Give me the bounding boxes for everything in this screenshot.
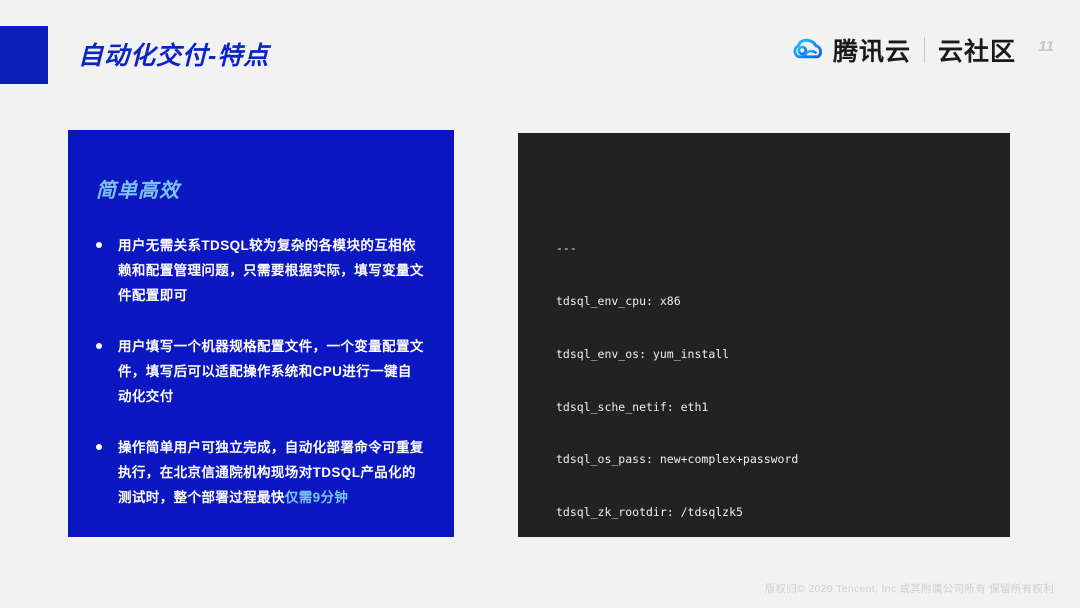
terminal-content: --- tdsql_env_cpu: x86 tdsql_env_os: yum… [556, 205, 1010, 537]
bullet-item: 操作简单用户可独立完成，自动化部署命令可重复执行，在北京信通院机构现场对TDSQ… [96, 435, 424, 510]
brand-sub-name: 云社区 [938, 32, 1016, 68]
bullet-text-main: 用户无需关系TDSQL较为复杂的各模块的互相依赖和配置管理问题，只需要根据实际，… [118, 238, 424, 303]
title-accent-block [0, 26, 48, 84]
bullet-dot-icon [96, 242, 102, 248]
bullet-dot-icon [96, 444, 102, 450]
bullet-item: 用户填写一个机器规格配置文件，一个变量配置文件，填写后可以适配操作系统和CPU进… [96, 334, 424, 409]
tencent-cloud-logo-icon [790, 33, 824, 67]
brand-divider [924, 37, 925, 63]
page-title: 自动化交付-特点 [78, 36, 269, 72]
bullet-dot-icon [96, 343, 102, 349]
feature-card-heading: 简单高效 [96, 174, 424, 203]
bullet-text-main: 操作简单用户可独立完成，自动化部署命令可重复执行，在北京信通院机构现场对TDSQ… [118, 440, 424, 505]
bullet-text-main: 用户填写一个机器规格配置文件，一个变量配置文件，填写后可以适配操作系统和CPU进… [118, 339, 424, 404]
bullet-text: 用户填写一个机器规格配置文件，一个变量配置文件，填写后可以适配操作系统和CPU进… [118, 334, 424, 409]
brand-name: 腾讯云 [833, 32, 911, 68]
bullet-text-accent: 仅需9分钟 [285, 490, 349, 505]
terminal-line: tdsql_os_pass: new+complex+password [556, 451, 1010, 469]
terminal-line: tdsql_env_os: yum_install [556, 346, 1010, 364]
slide-header: 自动化交付-特点 腾讯云 云社区 11 [0, 0, 1080, 110]
terminal-line: tdsql_zk_rootdir: /tdsqlzk5 [556, 504, 1010, 522]
terminal-line: tdsql_sche_netif: eth1 [556, 399, 1010, 417]
bullet-item: 用户无需关系TDSQL较为复杂的各模块的互相依赖和配置管理问题，只需要根据实际，… [96, 233, 424, 308]
feature-card: 简单高效 用户无需关系TDSQL较为复杂的各模块的互相依赖和配置管理问题，只需要… [68, 130, 454, 537]
terminal-line: tdsql_env_cpu: x86 [556, 293, 1010, 311]
terminal-line: --- [556, 240, 1010, 258]
bullet-text: 用户无需关系TDSQL较为复杂的各模块的互相依赖和配置管理问题，只需要根据实际，… [118, 233, 424, 308]
bullet-text: 操作简单用户可独立完成，自动化部署命令可重复执行，在北京信通院机构现场对TDSQ… [118, 435, 424, 510]
terminal-screenshot: --- tdsql_env_cpu: x86 tdsql_env_os: yum… [518, 133, 1010, 537]
footer-copyright: 版权归© 2020 Tencent, Inc 或其附属公司所有 保留所有权利 [765, 581, 1054, 596]
brand-lockup: 腾讯云 云社区 [790, 30, 1016, 70]
page-number: 11 [1038, 38, 1054, 55]
